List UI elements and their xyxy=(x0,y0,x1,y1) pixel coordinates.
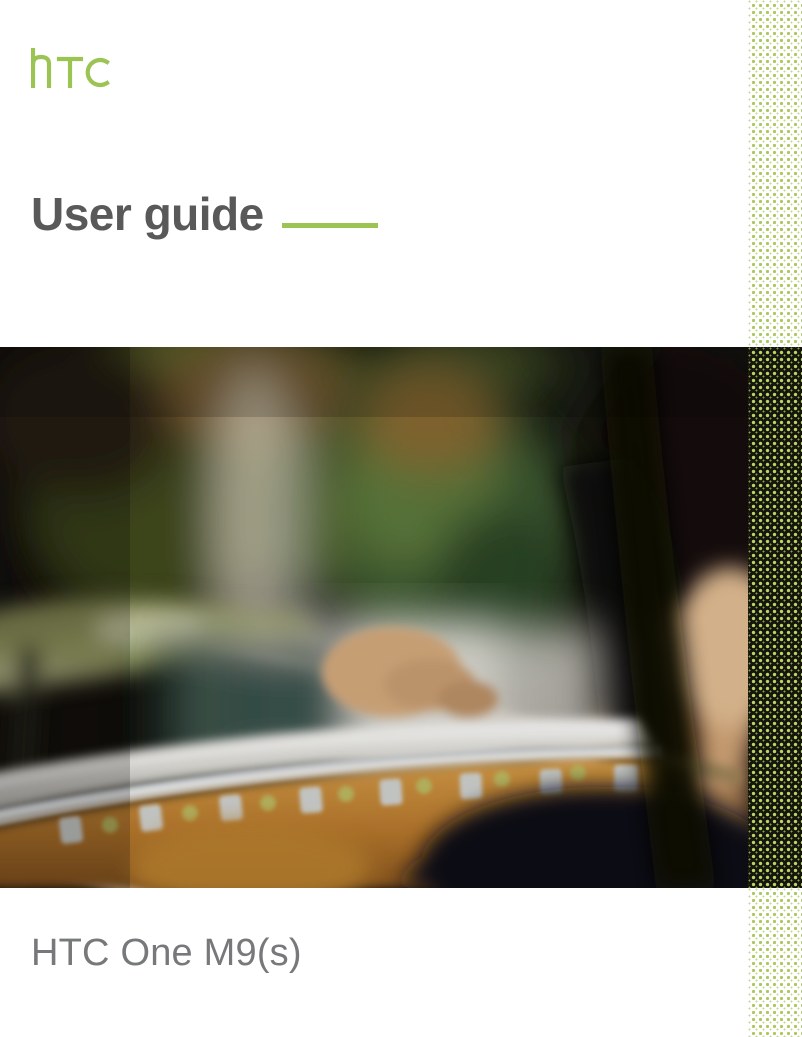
cover-title-row: User guide xyxy=(31,191,378,237)
htc-logo xyxy=(31,48,141,88)
title-underline-rule xyxy=(282,223,378,228)
cover-page: User guide xyxy=(0,0,802,1037)
dot-pattern-band-bottom xyxy=(748,888,802,1037)
dot-pattern-column xyxy=(748,0,802,1037)
device-name: HTC One M9(s) xyxy=(31,934,302,972)
dot-pattern-band-top xyxy=(748,0,802,347)
dot-pattern-band-photo xyxy=(748,347,802,888)
page-title: User guide xyxy=(31,191,264,237)
hero-photo xyxy=(0,347,748,888)
